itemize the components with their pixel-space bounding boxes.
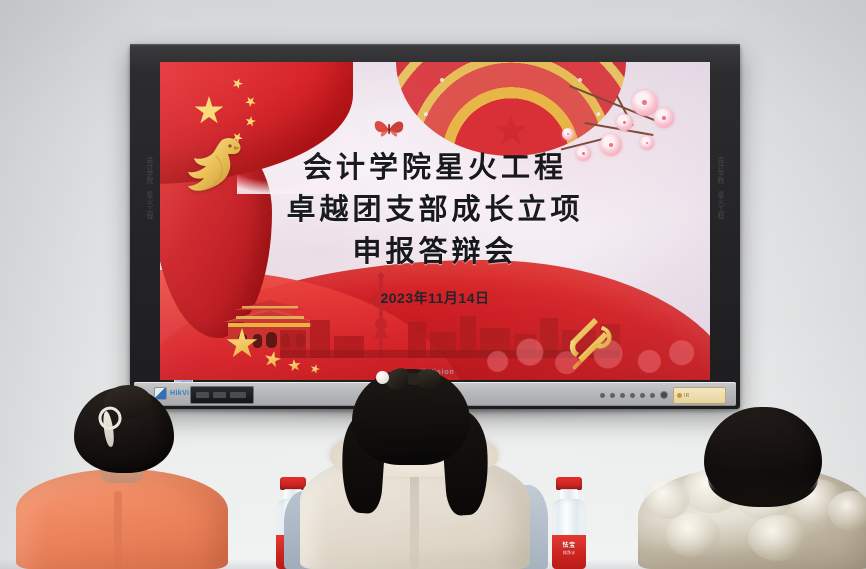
panel-button-3[interactable]	[620, 393, 625, 398]
panel-button-2[interactable]	[610, 393, 615, 398]
bow-knot	[408, 373, 419, 385]
panel-button-6[interactable]	[650, 393, 655, 398]
panel-button-1[interactable]	[600, 393, 605, 398]
panel-button-5[interactable]	[640, 393, 645, 398]
attendee-left-jacket	[16, 469, 228, 569]
attendee-left	[8, 389, 238, 569]
butterfly-icon	[372, 116, 406, 142]
bezel-highlight	[130, 44, 740, 47]
power-button[interactable]	[660, 391, 668, 399]
bottle-body: 怯宝 纯净水	[552, 499, 586, 569]
bottle-brand-text: 怯宝	[552, 540, 586, 549]
bottle-sub-text: 纯净水	[552, 550, 586, 556]
interactive-flat-panel[interactable]: 会计学院 星火工程 会计学院 星火工程	[130, 44, 740, 409]
panel-button-row[interactable]	[600, 391, 668, 399]
party-emblem-icon	[558, 312, 620, 374]
ir-sensor-icon	[677, 393, 682, 398]
hair-pearl-icon	[376, 371, 389, 384]
panel-screen[interactable]: 会计学院星火工程 卓越团支部成长立项 申报答辩会 2023年11月14日	[160, 62, 710, 380]
slide-date: 2023年11月14日	[160, 288, 710, 308]
bezel-text-left: 会计学院 星火工程	[144, 156, 153, 356]
slide-title-line-3: 申报答辩会	[160, 230, 710, 272]
bottle-label: 怯宝 纯净水	[552, 535, 586, 569]
slide-text-block: 会计学院星火工程 卓越团支部成长立项 申报答辩会 2023年11月14日	[160, 146, 710, 308]
slide-title-line-1: 会计学院星火工程	[160, 146, 710, 188]
panel-button-4[interactable]	[630, 393, 635, 398]
presentation-room-scene: 会计学院 星火工程 会计学院 星火工程	[0, 0, 866, 569]
attendee-right	[622, 399, 866, 569]
ir-plate-label: IR	[684, 393, 689, 399]
attendee-center	[290, 369, 540, 569]
attendee-center-hair-bow	[386, 369, 440, 391]
bezel-text-right: 会计学院 星火工程	[715, 156, 724, 356]
slide-title-line-2: 卓越团支部成长立项	[160, 188, 710, 230]
water-bottle-right[interactable]: 怯宝 纯净水	[552, 477, 586, 569]
